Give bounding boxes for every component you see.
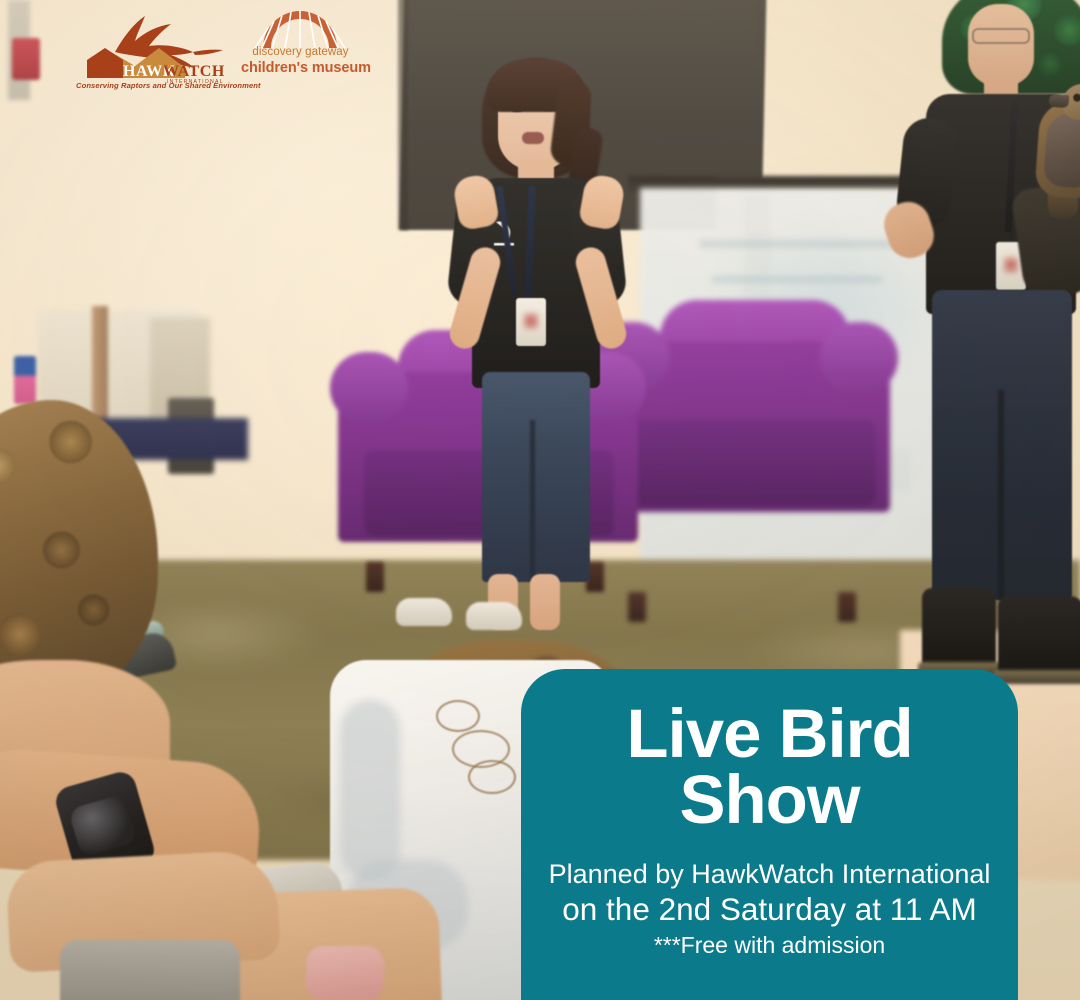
card-subtitle-organizer: Planned by HawkWatch International xyxy=(543,859,996,889)
card-title-line1: Live Bird xyxy=(543,701,996,767)
discovery-gateway-line1: discovery gateway xyxy=(243,46,358,58)
card-title-line2: Show xyxy=(543,767,996,833)
discovery-gateway-logo: discovery gateway children's museum xyxy=(243,10,358,88)
discovery-gateway-line2: children's museum xyxy=(241,60,360,76)
poster-root: HAWK WATCH INTERNATIONAL Conserving Rapt… xyxy=(0,0,1080,1000)
hawkwatch-logo: HAWK WATCH INTERNATIONAL Conserving Rapt… xyxy=(75,8,240,90)
hawkwatch-tagline: Conserving Raptors and Our Shared Enviro… xyxy=(76,81,256,90)
card-subtitle-schedule: on the 2nd Saturday at 11 AM xyxy=(543,892,996,927)
hawkwatch-wordmark-watch: WATCH xyxy=(163,63,225,80)
event-info-card: Live Bird Show Planned by HawkWatch Inte… xyxy=(521,669,1018,1000)
logo-bar: HAWK WATCH INTERNATIONAL Conserving Rapt… xyxy=(0,0,1080,110)
card-subtitle-admission: ***Free with admission xyxy=(543,933,996,959)
sunburst-icon xyxy=(243,10,358,50)
